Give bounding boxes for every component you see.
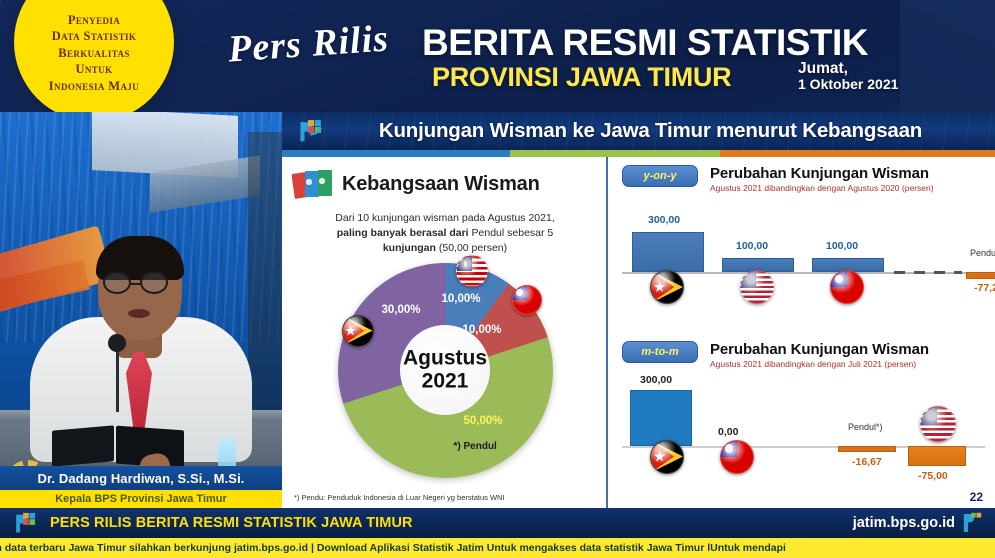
eyeglasses-bridge	[131, 283, 140, 286]
change-charts-panel: y-on-y Perubahan Kunjungan Wisman Agustu…	[606, 157, 995, 508]
speaker-video-feed	[0, 112, 282, 508]
bar-mtm-malaysia	[908, 446, 966, 466]
broadcast-footer: PERS RILIS BERITA RESMI STATISTIK JAWA T…	[0, 508, 995, 558]
chart-yoy-plot: 300,00 100,00 100,00 Pendul*) -77,27	[622, 198, 985, 318]
motto-badge: Penyedia Data Statistik Berkualitas Untu…	[14, 0, 174, 122]
broadcast-screen: Penyedia Data Statistik Berkualitas Untu…	[0, 0, 995, 558]
value-mtm-taiwan: 0,00	[718, 426, 738, 438]
flag-taiwan-mtm-icon	[720, 440, 754, 474]
ticker-text: ilkan data terbaru Jawa Timur silahkan b…	[0, 542, 786, 554]
value-yoy-pendul: -77,27	[974, 282, 995, 294]
slide-title: Kunjungan Wisman ke Jawa Timur menurut K…	[324, 119, 995, 143]
desc-line-3-bold: kunjungan	[383, 242, 436, 254]
pers-rilis-script: Pers Rilis	[227, 16, 391, 71]
speaker-role: Kepala BPS Provinsi Jawa Timur	[55, 493, 227, 505]
desc-line-3-rest: (50,00 persen)	[436, 242, 507, 254]
donut-label-malaysia: 10,00%	[442, 293, 481, 305]
footer-ticker: ilkan data terbaru Jawa Timur silahkan b…	[0, 538, 995, 558]
microphone-icon	[108, 334, 126, 352]
strip-blue	[282, 150, 510, 157]
strip-green	[510, 150, 720, 157]
flag-malaysia-yoy-icon	[740, 270, 774, 304]
flag-timor-leste-icon	[342, 315, 374, 347]
presentation-slide: Kunjungan Wisman ke Jawa Timur menurut K…	[282, 112, 995, 508]
program-title: BERITA RESMI STATISTIK	[422, 24, 868, 61]
flag-malaysia-mtm-icon	[920, 406, 956, 442]
bps-logo-footer-icon	[12, 511, 38, 535]
badge-mtm: m-to-m	[622, 341, 698, 363]
date-day: Jumat,	[798, 60, 898, 77]
value-mtm-malaysia: -75,00	[918, 470, 948, 482]
donut-label-pendul: 50,00%	[464, 415, 503, 427]
chart-mtm-title: Perubahan Kunjungan Wisman	[710, 341, 929, 358]
slide-color-strip	[282, 150, 995, 157]
program-subtitle: PROVINSI JAWA TIMUR	[432, 64, 731, 91]
chart-mtm-header: m-to-m Perubahan Kunjungan Wisman Agustu…	[608, 333, 995, 370]
motto-text: Penyedia Data Statistik Berkualitas Untu…	[49, 12, 139, 95]
speaker-mouth	[128, 309, 150, 318]
chart-mtm-titles: Perubahan Kunjungan Wisman Agustus 2021 …	[710, 341, 929, 370]
chart-yoy-titles: Perubahan Kunjungan Wisman Agustus 2021 …	[710, 165, 934, 194]
chart-mtm-plot: 300,00 0,00 Pendul*) -16,67 -75,00	[622, 374, 985, 494]
speaker-nameplate: Dr. Dadang Hardiwan, S.Si., M.Si. Kepala…	[0, 466, 282, 508]
broadcast-header: Penyedia Data Statistik Berkualitas Untu…	[0, 0, 995, 112]
flag-taiwan-yoy-icon	[830, 270, 864, 304]
bps-logo-icon	[296, 118, 324, 144]
value-yoy-taiwan: 100,00	[826, 240, 858, 252]
value-yoy-malaysia: 100,00	[736, 240, 768, 252]
value-mtm-timor-leste: 300,00	[640, 374, 672, 386]
flag-timor-leste-mtm-icon	[650, 440, 684, 474]
speaker-name: Dr. Dadang Hardiwan, S.Si., M.Si.	[37, 471, 244, 486]
bps-logo-footer-right-icon	[959, 511, 983, 535]
chart-yoy-header: y-on-y Perubahan Kunjungan Wisman Agustu…	[608, 157, 995, 194]
desc-line-1: Dari 10 kunjungan wisman pada Agustus 20…	[335, 212, 554, 224]
flag-malaysia-icon	[456, 255, 488, 287]
value-yoy-timor-leste: 300,00	[648, 214, 680, 226]
footer-bar: PERS RILIS BERITA RESMI STATISTIK JAWA T…	[0, 508, 995, 538]
slide-body: Kebangsaan Wisman Dari 10 kunjungan wism…	[282, 157, 995, 508]
section-description: Dari 10 kunjungan wisman pada Agustus 20…	[306, 211, 584, 257]
date-full: 1 Oktober 2021	[798, 77, 898, 93]
flag-timor-leste-yoy-icon	[650, 270, 684, 304]
footer-url[interactable]: jatim.bps.go.id	[853, 515, 955, 531]
broadcast-date: Jumat, 1 Oktober 2021	[798, 60, 898, 93]
slide-page-number: 22	[970, 490, 983, 504]
badge-yoy: y-on-y	[622, 165, 698, 187]
laptop-left	[52, 425, 114, 466]
chart-yoy: y-on-y Perubahan Kunjungan Wisman Agustu…	[608, 157, 995, 333]
value-mtm-pendul: -16,67	[852, 456, 882, 468]
desc-line-2-bold: paling banyak berasal dari	[337, 227, 469, 239]
nameplate-role-bar: Kepala BPS Provinsi Jawa Timur	[0, 490, 282, 508]
microphone-stem	[116, 344, 119, 412]
flag-taiwan-icon	[512, 285, 542, 315]
donut-label-taiwan: 10,00%	[463, 324, 502, 336]
strip-orange	[720, 150, 995, 157]
nationality-panel: Kebangsaan Wisman Dari 10 kunjungan wism…	[282, 157, 604, 508]
chart-yoy-title: Perubahan Kunjungan Wisman	[710, 165, 934, 182]
section-header: Kebangsaan Wisman	[292, 167, 598, 201]
chart-mtm: m-to-m Perubahan Kunjungan Wisman Agustu…	[608, 333, 995, 509]
label-yoy-pendul: Pendul*)	[970, 248, 995, 258]
bar-mtm-timor-leste	[630, 390, 692, 446]
slide-title-bar: Kunjungan Wisman ke Jawa Timur menurut K…	[282, 112, 995, 150]
section-title: Kebangsaan Wisman	[342, 173, 540, 196]
label-mtm-pendul: Pendul*)	[848, 422, 883, 432]
bar-yoy-timor-leste	[632, 232, 704, 272]
nameplate-name-bar: Dr. Dadang Hardiwan, S.Si., M.Si.	[0, 466, 282, 490]
booklets-icon	[292, 167, 336, 201]
bar-yoy-pendul	[966, 272, 995, 279]
bar-mtm-pendul	[838, 446, 896, 452]
slide-footnote: *) Pendu: Penduduk Indonesia di Luar Neg…	[294, 493, 505, 502]
footer-title: PERS RILIS BERITA RESMI STATISTIK JAWA T…	[50, 515, 413, 531]
chart-yoy-subtitle: Agustus 2021 dibandingkan dengan Agustus…	[710, 184, 934, 194]
donut-pendul-note: *) Pendul	[454, 441, 497, 452]
eyeglasses-right-lens	[140, 271, 168, 294]
desc-line-2-rest: Pendul sebesar 5	[469, 227, 554, 239]
nationality-donut-chart: Agustus 2021 10,00% 10,00% 30,00% 50,00%…	[338, 263, 553, 478]
chart-yoy-dashes	[894, 271, 962, 274]
donut-label-timor-leste: 30,00%	[382, 304, 421, 316]
eyeglasses-left-lens	[103, 271, 131, 294]
chart-mtm-subtitle: Agustus 2021 dibandingkan dengan Juli 20…	[710, 360, 929, 370]
